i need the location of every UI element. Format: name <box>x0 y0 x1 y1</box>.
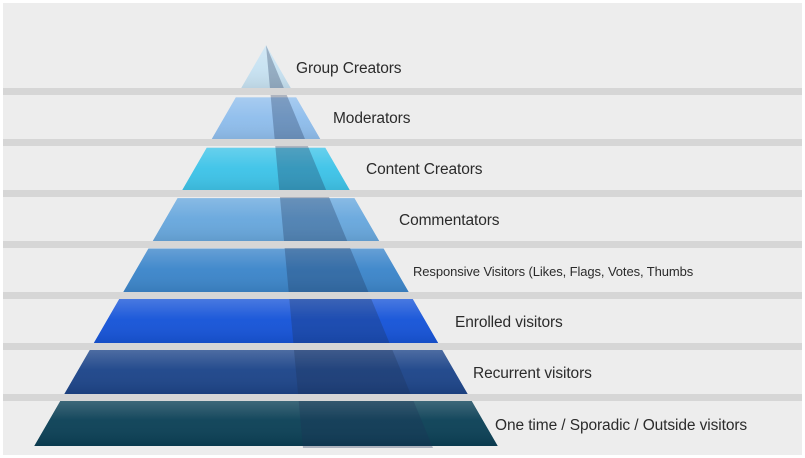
row-separator-3 <box>3 190 805 197</box>
row-separator-6 <box>3 343 805 350</box>
pyramid-level-label-2: Moderators <box>333 110 410 128</box>
row-separator-7 <box>3 394 805 401</box>
pyramid-level-label-4: Commentators <box>399 212 499 230</box>
pyramid-graphic <box>3 3 805 458</box>
row-separator-5 <box>3 292 805 299</box>
pyramid-level-label-6: Enrolled visitors <box>455 314 563 332</box>
pyramid-level-label-7: Recurrent visitors <box>473 365 592 383</box>
pyramid-band-sheen-5 <box>122 249 411 295</box>
pyramid-level-label-5: Responsive Visitors (Likes, Flags, Votes… <box>413 264 693 279</box>
pyramid-band-sheen-4 <box>151 198 382 244</box>
pyramid-level-label-1: Group Creators <box>296 60 401 78</box>
pyramid-diagram-canvas: Group CreatorsModeratorsContent Creators… <box>0 0 805 458</box>
pyramid-band-sheen-3 <box>180 148 352 194</box>
row-separator-4 <box>3 241 805 248</box>
pyramid-band-sheen-2 <box>209 97 323 143</box>
row-separator-1 <box>3 88 805 95</box>
row-separator-2 <box>3 139 805 146</box>
pyramid-level-label-3: Content Creators <box>366 161 482 179</box>
pyramid-band-sheen-1 <box>238 45 294 93</box>
pyramid-level-label-8: One time / Sporadic / Outside visitors <box>495 417 747 435</box>
